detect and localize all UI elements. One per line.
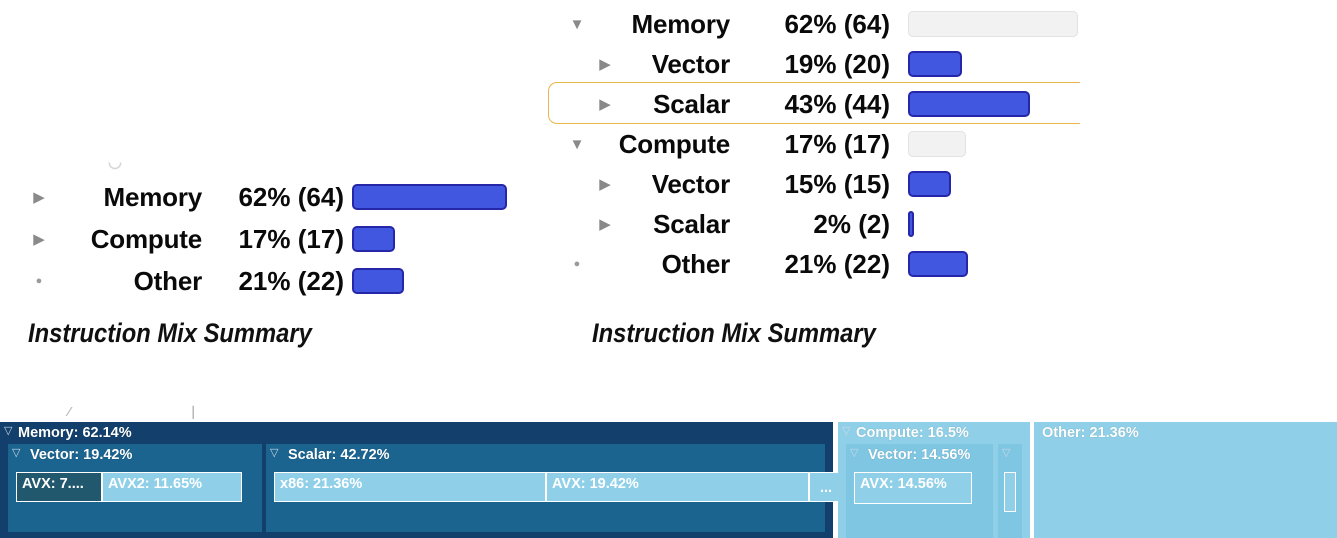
mix-row-other-6[interactable]: ●Other21% (22) bbox=[560, 244, 1100, 284]
treemap-leaf-compute-vector-0[interactable]: AVX: 14.56% bbox=[854, 472, 972, 504]
mix-row-percent: 21% (22) bbox=[22, 260, 344, 302]
mix-row-vector-4[interactable]: ▶Vector15% (15) bbox=[560, 164, 1100, 204]
mix-row-percent-value: 21% bbox=[784, 249, 836, 279]
mix-row-count-value: (22) bbox=[298, 266, 344, 296]
mix-row-bar-cell bbox=[908, 44, 1100, 84]
mix-row-count-value: (2) bbox=[858, 209, 890, 239]
mix-row-scalar-2[interactable]: ▶Scalar43% (44) bbox=[560, 84, 1100, 124]
mix-row-percent: 17% (17) bbox=[22, 218, 344, 260]
expanded-caret-icon[interactable]: ▽ bbox=[12, 448, 20, 459]
treemap-group-compute-group[interactable]: ▽Compute: 16.5%▽Vector: 14.56%AVX: 14.56… bbox=[838, 422, 1030, 538]
instruction-mix-panel-right: ▼Memory62% (64)▶Vector19% (20)▶Scalar43%… bbox=[560, 4, 1100, 284]
treemap-leaf-compute-scalar-0[interactable] bbox=[1004, 472, 1016, 512]
treemap-group-title: Memory: 62.14% bbox=[18, 425, 132, 441]
mix-row-bar bbox=[908, 131, 966, 157]
expanded-caret-icon[interactable]: ▽ bbox=[270, 448, 278, 459]
mix-row-percent-value: 43% bbox=[784, 89, 836, 119]
mix-row-bar bbox=[352, 268, 404, 294]
mix-row-bar bbox=[352, 226, 395, 252]
treemap-leaf-label: AVX2: 11.65% bbox=[108, 476, 202, 492]
mix-row-count-value: (64) bbox=[844, 9, 890, 39]
mix-row-vector-1[interactable]: ▶Vector19% (20) bbox=[560, 44, 1100, 84]
mix-row-count-value: (15) bbox=[844, 169, 890, 199]
treemap-leaf-label: AVX: 19.42% bbox=[552, 476, 639, 492]
treemap-node-title: Scalar: 42.72% bbox=[288, 447, 390, 463]
mix-row-count-value: (44) bbox=[844, 89, 890, 119]
treemap-group-title: Compute: 16.5% bbox=[856, 425, 969, 441]
clipped-ui-artifact-left: ◡ bbox=[108, 152, 122, 172]
mix-row-bar-cell bbox=[352, 218, 522, 260]
expanded-caret-icon[interactable]: ▽ bbox=[4, 426, 12, 437]
treemap-leaf-label: AVX: 14.56% bbox=[860, 476, 947, 492]
mix-row-other-2[interactable]: ●Other21% (22) bbox=[22, 260, 522, 302]
mix-row-compute-3[interactable]: ▼Compute17% (17) bbox=[560, 124, 1100, 164]
mix-row-memory-0[interactable]: ▶Memory62% (64) bbox=[22, 176, 522, 218]
treemap-node-title: Vector: 19.42% bbox=[30, 447, 132, 463]
treemap-node-memory-scalar[interactable]: ▽Scalar: 42.72%x86: 21.36%AVX: 19.42%... bbox=[266, 444, 825, 532]
mix-row-count-value: (22) bbox=[844, 249, 890, 279]
mix-row-percent-value: 15% bbox=[784, 169, 836, 199]
mix-row-bar bbox=[908, 251, 968, 277]
treemap-leaf-memory-vector-0[interactable]: AVX: 7.... bbox=[16, 472, 102, 502]
mix-row-bar-cell bbox=[908, 244, 1100, 284]
mix-row-bar bbox=[908, 91, 1030, 117]
mix-row-percent: 43% (44) bbox=[560, 84, 890, 124]
mix-row-percent-value: 21% bbox=[238, 266, 290, 296]
mix-row-percent: 62% (64) bbox=[22, 176, 344, 218]
mix-row-bar bbox=[908, 171, 951, 197]
treemap-node-compute-vector[interactable]: ▽Vector: 14.56%AVX: 14.56% bbox=[846, 444, 993, 538]
mix-row-percent-value: 17% bbox=[784, 129, 836, 159]
mix-row-count-value: (17) bbox=[844, 129, 890, 159]
mix-row-scalar-5[interactable]: ▶Scalar2% (2) bbox=[560, 204, 1100, 244]
mix-row-percent: 19% (20) bbox=[560, 44, 890, 84]
mix-row-bar bbox=[908, 211, 914, 237]
mix-row-bar-cell bbox=[352, 260, 522, 302]
mix-row-bar-cell bbox=[352, 176, 522, 218]
expanded-caret-icon[interactable]: ▽ bbox=[850, 448, 858, 459]
mix-row-percent: 2% (2) bbox=[560, 204, 890, 244]
mix-row-percent: 17% (17) bbox=[560, 124, 890, 164]
instruction-mix-panel-left: ▶Memory62% (64)▶Compute17% (17)●Other21%… bbox=[22, 176, 522, 302]
treemap-node-title: Vector: 14.56% bbox=[868, 447, 970, 463]
instruction-mix-treemap: ▽Memory: 62.14%▽Vector: 19.42%AVX: 7....… bbox=[0, 422, 1337, 538]
mix-row-count-value: (64) bbox=[298, 182, 344, 212]
mix-row-bar bbox=[908, 51, 962, 77]
mix-row-compute-1[interactable]: ▶Compute17% (17) bbox=[22, 218, 522, 260]
mix-row-bar-cell bbox=[908, 4, 1100, 44]
mix-row-count-value: (20) bbox=[844, 49, 890, 79]
mix-row-count-value: (17) bbox=[298, 224, 344, 254]
treemap-leaf-label: AVX: 7.... bbox=[22, 476, 84, 492]
treemap-group-memory-group[interactable]: ▽Memory: 62.14%▽Vector: 19.42%AVX: 7....… bbox=[0, 422, 833, 538]
mix-row-percent-value: 2% bbox=[813, 209, 851, 239]
mix-row-bar-cell bbox=[908, 164, 1100, 204]
mix-row-percent-value: 17% bbox=[238, 224, 290, 254]
treemap-leaf-memory-scalar-0[interactable]: x86: 21.36% bbox=[274, 472, 546, 502]
treemap-group-title: Other: 21.36% bbox=[1042, 425, 1139, 441]
mix-row-percent: 62% (64) bbox=[560, 4, 890, 44]
treemap-leaf-memory-vector-1[interactable]: AVX2: 11.65% bbox=[102, 472, 242, 502]
expanded-caret-icon[interactable]: ▽ bbox=[842, 426, 850, 437]
mix-row-percent-value: 62% bbox=[784, 9, 836, 39]
treemap-leaf-memory-scalar-1[interactable]: AVX: 19.42% bbox=[546, 472, 809, 502]
panel-left-caption: Instruction Mix Summary bbox=[28, 318, 312, 349]
mix-row-percent-value: 19% bbox=[784, 49, 836, 79]
mix-row-percent: 15% (15) bbox=[560, 164, 890, 204]
treemap-node-memory-vector[interactable]: ▽Vector: 19.42%AVX: 7....AVX2: 11.65% bbox=[8, 444, 262, 532]
clipped-ui-artifact-a: ∕ bbox=[68, 404, 70, 419]
mix-row-bar bbox=[352, 184, 507, 210]
treemap-group-other-group[interactable]: Other: 21.36% bbox=[1034, 422, 1337, 538]
mix-row-memory-0[interactable]: ▼Memory62% (64) bbox=[560, 4, 1100, 44]
expanded-caret-icon[interactable]: ▽ bbox=[1002, 448, 1010, 459]
mix-row-bar-cell bbox=[908, 124, 1100, 164]
treemap-node-compute-scalar[interactable]: ▽ bbox=[998, 444, 1022, 538]
mix-row-bar-cell bbox=[908, 204, 1100, 244]
mix-row-bar bbox=[908, 11, 1078, 37]
mix-row-percent-value: 62% bbox=[238, 182, 290, 212]
treemap-leaf-label: x86: 21.36% bbox=[280, 476, 362, 492]
mix-row-percent: 21% (22) bbox=[560, 244, 890, 284]
clipped-ui-artifact-b: ∣ bbox=[190, 404, 197, 420]
mix-row-bar-cell bbox=[908, 84, 1100, 124]
panel-right-caption: Instruction Mix Summary bbox=[592, 318, 876, 349]
